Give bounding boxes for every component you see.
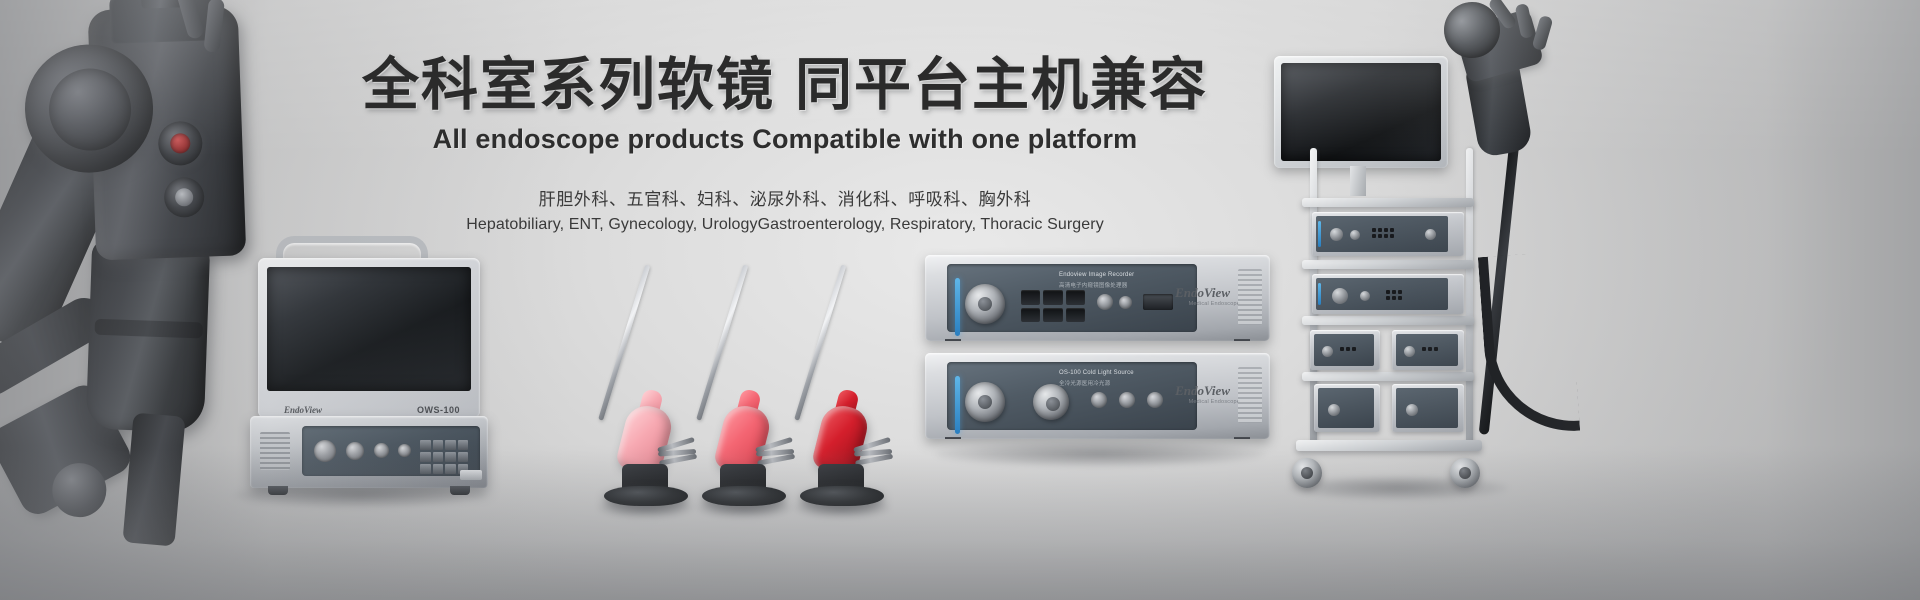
workstation-side-badge — [460, 470, 482, 480]
workstation-screen — [267, 267, 471, 391]
light-source-title-cn: 全冷光源医用冷光源 — [1059, 379, 1110, 387]
light-source-knob-1 — [1091, 392, 1107, 408]
trolley-device-bottom-left — [1314, 384, 1380, 432]
light-source-foot-right — [1234, 437, 1250, 439]
endoview-light-source-unit: OS-100 Cold Light Source 全冷光源医用冷光源 EndoV… — [925, 353, 1270, 439]
recorder-vent-grille — [1238, 269, 1262, 325]
trolley-caster-wheel-left — [1292, 458, 1322, 488]
rigid-scope-salmon-base — [702, 486, 786, 506]
light-source-knob-2 — [1119, 392, 1135, 408]
banner-headline: 全科室系列软镜同平台主机兼容 — [0, 52, 1570, 118]
trolley-device-lower-left-buttons — [1340, 347, 1356, 351]
recorder-title-cn: 高清电子内窥镜图像处理器 — [1059, 281, 1127, 289]
light-source-title-en: OS-100 Cold Light Source — [1059, 370, 1134, 376]
workstation-display-bezel: EndoView OWS-100 — [258, 258, 480, 418]
light-source-intensity-dial — [1033, 384, 1069, 420]
recorder-sub-logo: Medical Endoscope — [1189, 301, 1240, 307]
trolley-device-middle-accent — [1318, 283, 1321, 305]
trolley-device-lower-left-knob — [1322, 346, 1333, 357]
rigid-scope-red-clamp — [853, 437, 898, 467]
headline-segment-1: 全科室系列软镜 — [362, 53, 775, 117]
workstation-base-unit — [250, 416, 488, 488]
banner-subtitle-english: All endoscope products Compatible with o… — [0, 124, 1570, 155]
light-source-foot-left — [945, 437, 961, 439]
light-source-brand-logo: EndoView — [1175, 383, 1230, 399]
trolley-device-middle-knob — [1360, 291, 1370, 301]
workstation-foot-left — [268, 486, 288, 495]
recorder-usb-port — [1143, 294, 1173, 310]
workstation-port-2 — [346, 442, 364, 460]
rigid-scope-pink-base — [604, 486, 688, 506]
trolley-device-lower-left-panel — [1314, 334, 1374, 366]
light-source-vent-grille — [1238, 367, 1262, 423]
workstation-port-3 — [374, 443, 389, 458]
banner-text-block: 全科室系列软镜同平台主机兼容 All endoscope products Co… — [0, 52, 1570, 234]
workstation-port-4 — [398, 444, 411, 457]
trolley-device-middle-panel — [1316, 278, 1448, 310]
workstation-foot-right — [450, 486, 470, 495]
workstation-control-panel — [302, 426, 480, 476]
trolley-device-middle-dial — [1332, 288, 1348, 304]
workstation-port-1 — [314, 440, 336, 462]
endoview-image-recorder-unit: Endoview Image Recorder 高清电子内窥镜图像处理器 End… — [925, 255, 1270, 341]
secondary-scope-tube-curve — [1478, 251, 1580, 437]
trolley-caster-wheel-right — [1450, 458, 1480, 488]
secondary-scope-stub-3 — [1532, 15, 1554, 51]
recorder-brand-logo: EndoView — [1175, 285, 1230, 301]
light-source-sub-logo: Medical Endoscope — [1189, 399, 1240, 405]
banner-specialties-english: Hepatobiliary, ENT, Gynecology, UrologyG… — [0, 216, 1570, 234]
recorder-button-pad — [1021, 290, 1085, 322]
recorder-front-panel: Endoview Image Recorder 高清电子内窥镜图像处理器 — [947, 264, 1197, 332]
trolley-device-middle-buttons — [1386, 290, 1402, 300]
light-source-knob-3 — [1147, 392, 1163, 408]
banner-specialties-chinese: 肝胆外科、五官科、妇科、泌尿外科、消化科、呼吸科、胸外科 — [0, 185, 1570, 210]
recorder-foot-left — [945, 339, 961, 341]
stacked-endoview-units: Endoview Image Recorder 高清电子内窥镜图像处理器 End… — [925, 255, 1270, 475]
trolley-device-lower-left — [1310, 330, 1380, 370]
recorder-main-dial — [965, 284, 1005, 324]
light-source-accent-stripe — [955, 376, 960, 434]
light-source-aperture-dial — [965, 382, 1005, 422]
endoscope-eyepiece — [140, 0, 183, 9]
workstation-brand-label: EndoView — [284, 405, 322, 415]
monitor-workstation-product: EndoView OWS-100 — [228, 240, 488, 500]
recorder-knob-2 — [1119, 296, 1132, 309]
workstation-vent-grille — [260, 432, 290, 470]
rigid-scope-red — [792, 258, 942, 508]
recorder-title-en: Endoview Image Recorder — [1059, 272, 1134, 278]
recorder-foot-right — [1234, 339, 1250, 341]
rigid-scope-red-base — [800, 486, 884, 506]
workstation-keypad — [420, 440, 468, 474]
headline-segment-2: 同平台主机兼容 — [795, 53, 1208, 117]
product-banner: EndoView OWS-100 — [0, 0, 1920, 600]
workstation-model-label: OWS-100 — [417, 405, 460, 415]
light-source-front-panel: OS-100 Cold Light Source 全冷光源医用冷光源 — [947, 362, 1197, 430]
recorder-knob-1 — [1097, 294, 1113, 310]
endoscope-connector-cap — [51, 462, 107, 518]
trolley-device-bottom-right-knob — [1406, 404, 1418, 416]
trolley-device-lower-right-knob — [1404, 346, 1415, 357]
trolley-base-shelf — [1296, 440, 1482, 451]
trolley-device-bottom-left-knob — [1328, 404, 1340, 416]
trolley-device-bottom-left-panel — [1318, 388, 1374, 428]
endoscope-cable — [122, 413, 185, 547]
stacked-units-shadow — [935, 441, 1265, 467]
recorder-accent-stripe — [955, 278, 960, 336]
